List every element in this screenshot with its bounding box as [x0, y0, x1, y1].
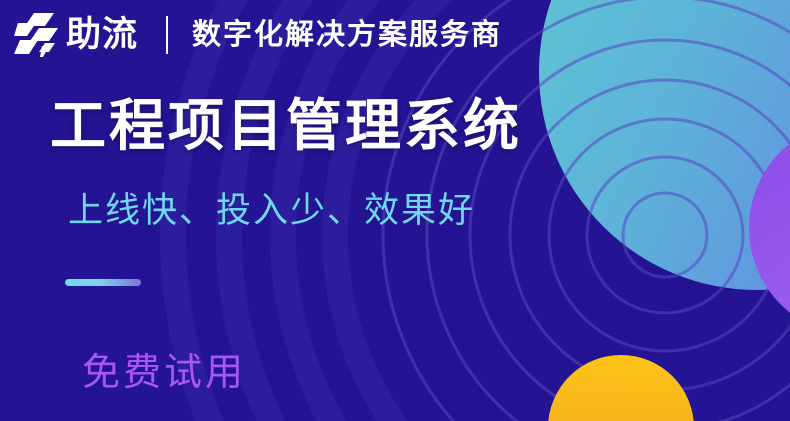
- brand-name: 助流: [66, 13, 138, 57]
- header-divider: [166, 16, 168, 54]
- free-trial-cta[interactable]: 免费试用: [82, 350, 246, 396]
- hero-subtitle: 上线快、投入少、效果好: [68, 190, 475, 232]
- banner-header: 助流 数字化解决方案服务商: [14, 11, 502, 59]
- promo-banner: 助流 数字化解决方案服务商 工程项目管理系统 上线快、投入少、效果好 免费试用: [0, 0, 790, 421]
- brand-tagline: 数字化解决方案服务商: [192, 13, 502, 57]
- zhuliu-logo-icon: [14, 13, 60, 57]
- accent-rule-divider: [65, 279, 141, 286]
- hero-headline: 工程项目管理系统: [50, 94, 522, 158]
